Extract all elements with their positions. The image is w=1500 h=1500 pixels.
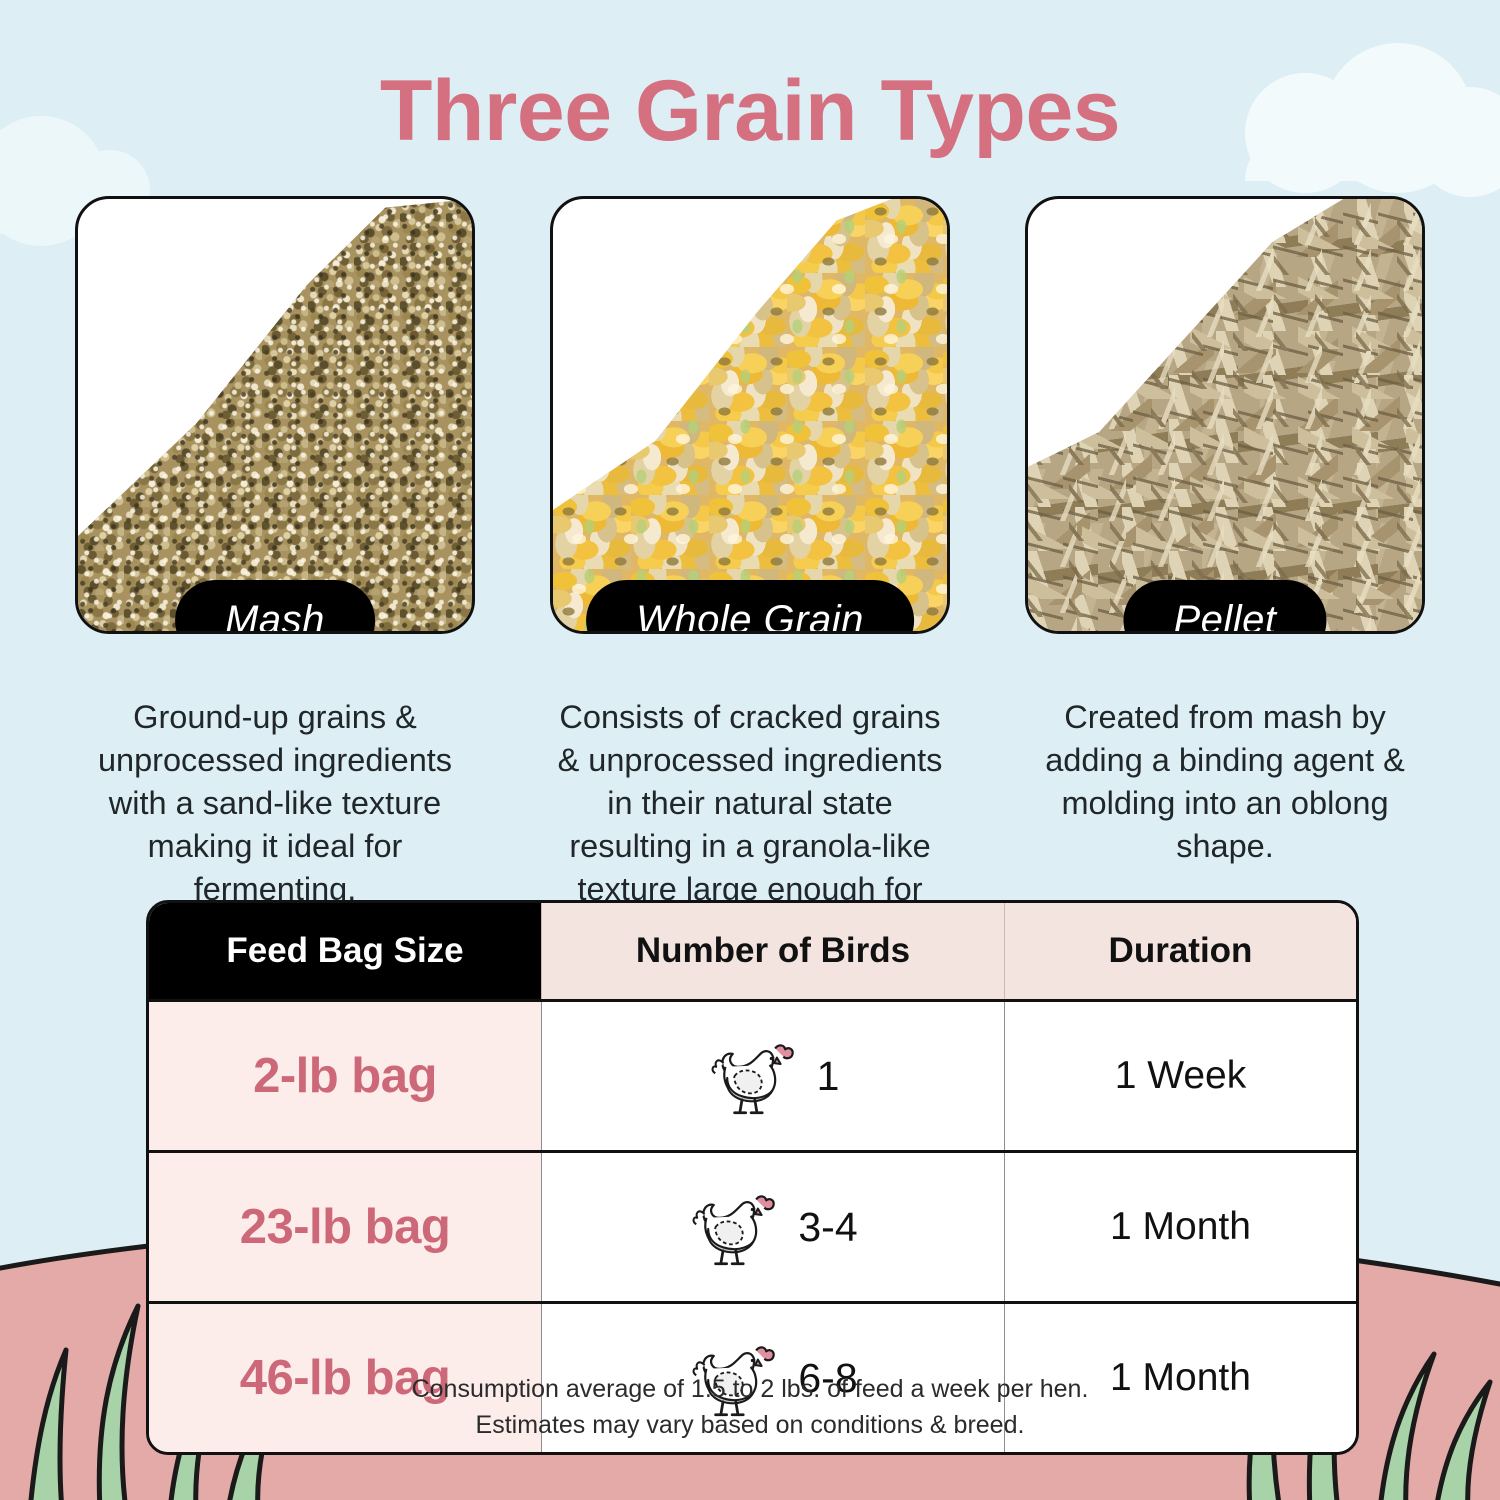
cell-bag-size: 23-lb bag [149, 1153, 541, 1301]
cell-duration: 1 Week [1004, 1002, 1356, 1150]
bird-count-label: 1 [817, 1053, 840, 1100]
hen-icon [688, 1181, 780, 1273]
grain-card-pellet: Pellet Created from mash by adding a bin… [1025, 196, 1425, 953]
mash-grain-photo: Mash [75, 196, 475, 634]
whole-grain-photo: Whole Grain [550, 196, 950, 634]
column-header-feed-bag-size: Feed Bag Size [149, 903, 541, 999]
cell-duration: 1 Month [1004, 1153, 1356, 1301]
grain-label-whole-grain: Whole Grain [586, 580, 914, 634]
grain-label-pellet: Pellet [1123, 580, 1326, 634]
page-title: Three Grain Types [0, 62, 1500, 161]
table-row: 23-lb bag 3-4 1 Month [149, 1150, 1356, 1301]
pellet-grain-photo: Pellet [1025, 196, 1425, 634]
column-header-number-of-birds: Number of Birds [541, 903, 1004, 999]
table-header-row: Feed Bag Size Number of Birds Duration [149, 903, 1356, 999]
infographic-page: Three Grain Types Mash Ground-up grains … [0, 0, 1500, 1500]
footnote-line-2: Estimates may vary based on conditions &… [0, 1408, 1500, 1444]
cell-bag-size: 2-lb bag [149, 1002, 541, 1150]
hen-icon [707, 1030, 799, 1122]
column-header-duration: Duration [1004, 903, 1356, 999]
grain-description-pellet: Created from mash by adding a binding ag… [1025, 696, 1425, 868]
grain-label-mash: Mash [175, 580, 375, 634]
bird-count-label: 3-4 [798, 1204, 857, 1251]
footnote-line-1: Consumption average of 1.5 to 2 lbs. of … [0, 1372, 1500, 1408]
cell-number-of-birds: 3-4 [541, 1153, 1004, 1301]
grain-card-whole-grain: Whole Grain Consists of cracked grains &… [550, 196, 950, 953]
grain-description-mash: Ground-up grains & unprocessed ingredien… [75, 696, 475, 910]
table-row: 2-lb bag 1 1 Week [149, 999, 1356, 1150]
footnote: Consumption average of 1.5 to 2 lbs. of … [0, 1372, 1500, 1443]
grain-card-mash: Mash Ground-up grains & unprocessed ingr… [75, 196, 475, 953]
cell-number-of-birds: 1 [541, 1002, 1004, 1150]
grain-cards-row: Mash Ground-up grains & unprocessed ingr… [0, 196, 1500, 953]
